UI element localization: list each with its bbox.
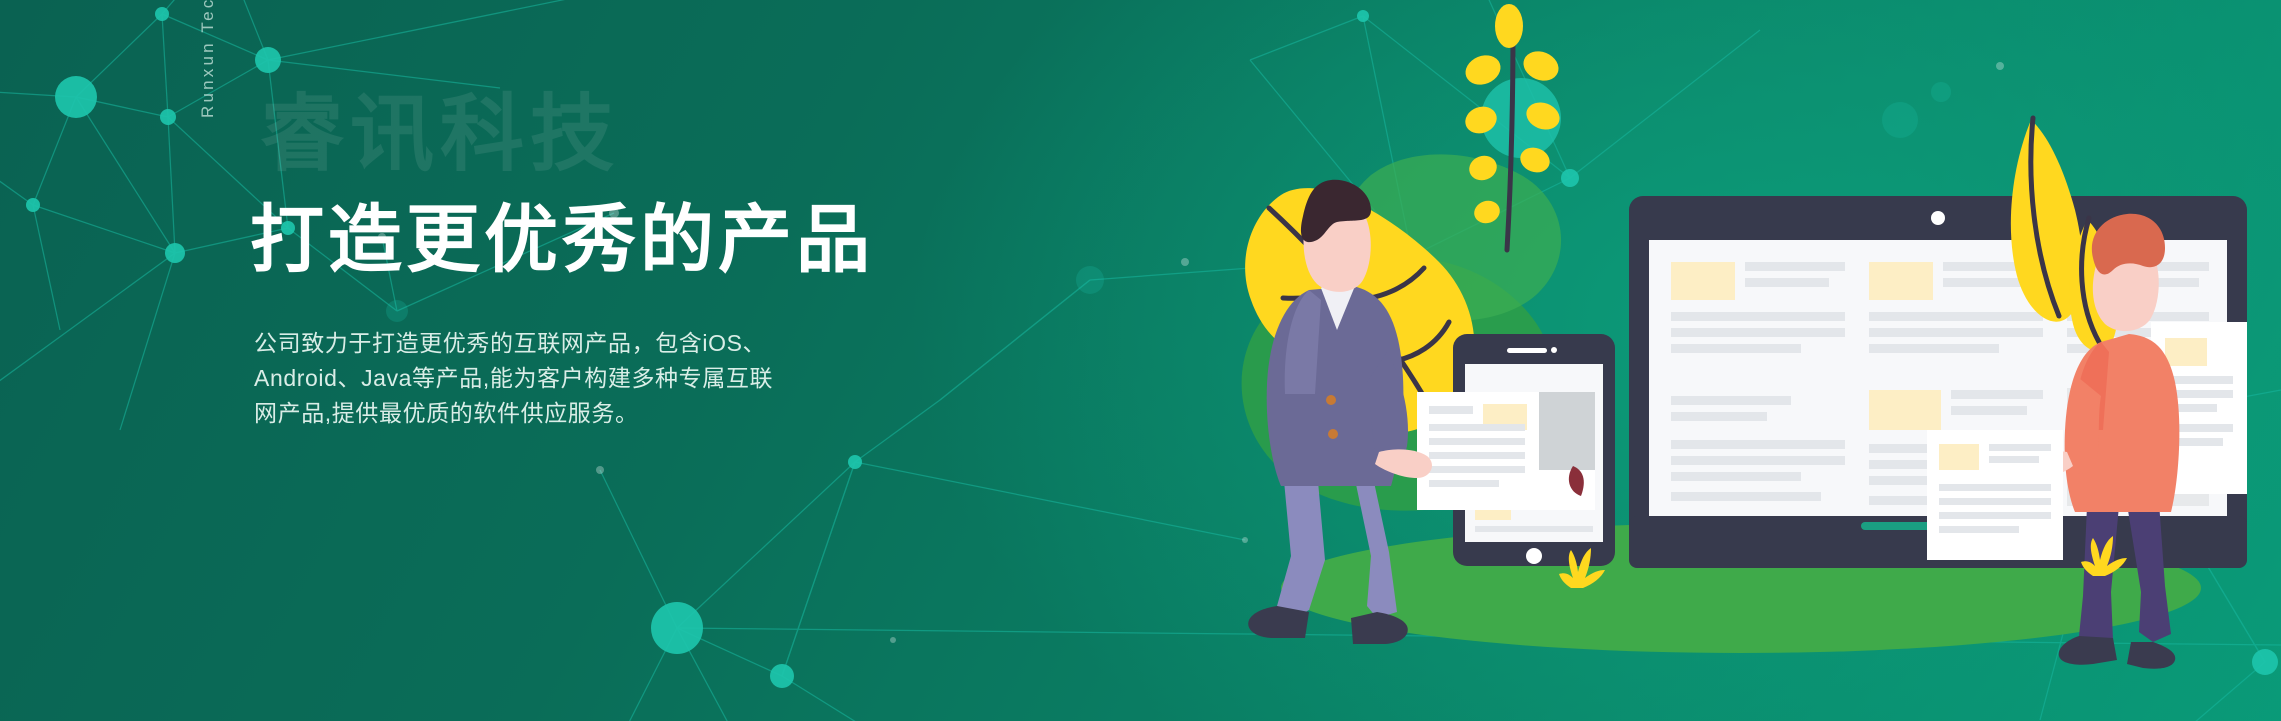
vertical-brand-text: Runxun Techlology [198,0,218,118]
hero-banner: Runxun Techlology 睿讯科技 打造更优秀的产品 公司致力于打造更… [0,0,2281,721]
hero-illustration [1221,0,2281,721]
floating-document-page [1417,392,1595,510]
hero-description: 公司致力于打造更优秀的互联网产品，包含iOS、Android、Java等产品,能… [254,326,796,431]
vertical-brand-label: Runxun Techlology [198,0,218,118]
page-title: 打造更优秀的产品 [250,195,874,285]
hero-copy-block: Runxun Techlology 睿讯科技 打造更优秀的产品 公司致力于打造更… [250,0,1070,721]
watermark-company-name: 睿讯科技 [260,92,620,176]
held-document-page [1927,430,2063,560]
